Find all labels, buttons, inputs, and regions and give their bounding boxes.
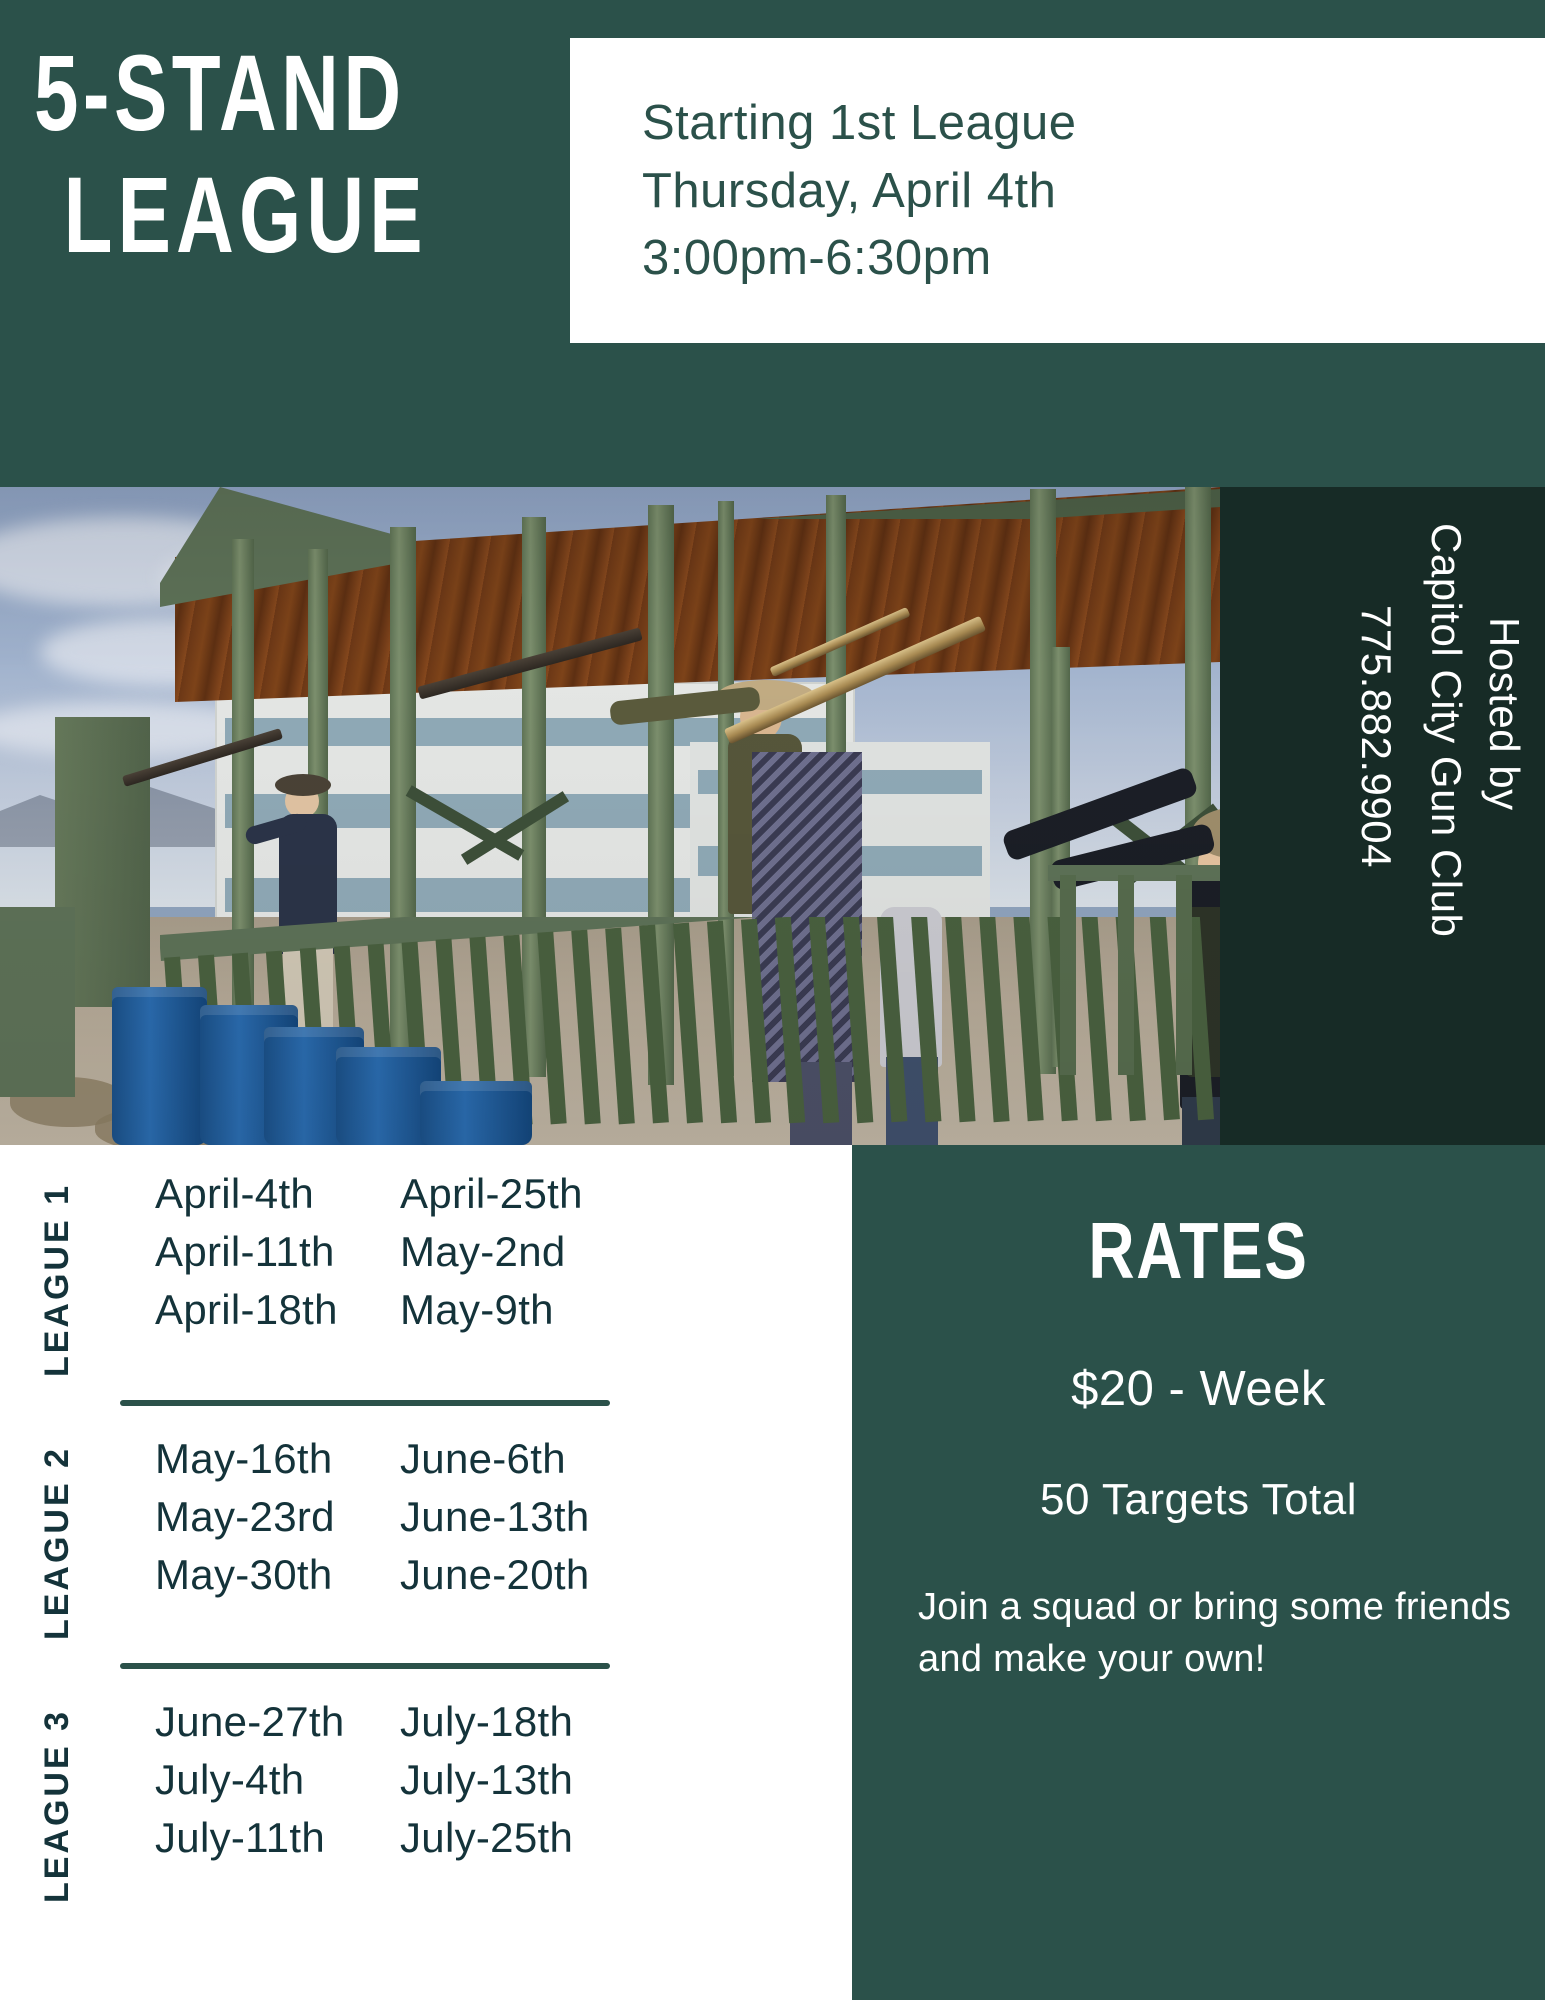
photo-band: Hosted by Capitol City Gun Club 775.882.… — [0, 487, 1545, 1145]
rates-note: Join a squad or bring some friends and m… — [852, 1581, 1545, 1686]
photo-rail-outer-post — [1060, 875, 1076, 1075]
date-cell: April-4th — [155, 1165, 400, 1223]
league-divider-1 — [120, 1400, 610, 1406]
flyer-page: 5-STAND LEAGUE Starting 1st League Thurs… — [0, 0, 1545, 2000]
date-cell: July-11th — [155, 1809, 400, 1867]
event-info-card: Starting 1st League Thursday, April 4th … — [570, 38, 1545, 343]
date-cell: May-2nd — [400, 1223, 645, 1281]
date-cell: May-30th — [155, 1546, 400, 1604]
league-dates-1: April-4th April-25th April-11th May-2nd … — [155, 1165, 645, 1339]
club-name: Capitol City Gun Club — [1425, 523, 1467, 937]
photo-rail-outer-post — [1118, 875, 1134, 1075]
shooting-range-photo — [0, 487, 1220, 1145]
event-info-line-1: Starting 1st League — [642, 90, 1545, 158]
title-line-2: LEAGUE — [34, 160, 419, 270]
event-info-line-2: Thursday, April 4th — [642, 158, 1545, 226]
league-dates-3: June-27th July-18th July-4th July-13th J… — [155, 1693, 645, 1867]
rates-panel: RATES $20 - Week 50 Targets Total Join a… — [852, 1145, 1545, 2000]
event-info-line-3: 3:00pm-6:30pm — [642, 225, 1545, 293]
league-label-2: LEAGUE 2 — [38, 1446, 77, 1640]
date-cell: May-23rd — [155, 1488, 400, 1546]
date-cell: June-13th — [400, 1488, 645, 1546]
date-cell: May-16th — [155, 1430, 400, 1488]
date-cell: April-25th — [400, 1165, 645, 1223]
date-cell: April-18th — [155, 1281, 400, 1339]
title-line-1: 5-STAND — [34, 38, 419, 148]
league-schedule: LEAGUE 1 April-4th April-25th April-11th… — [0, 1145, 852, 2000]
date-cell: April-11th — [155, 1223, 400, 1281]
date-cell: June-6th — [400, 1430, 645, 1488]
bottom-section: LEAGUE 1 April-4th April-25th April-11th… — [0, 1145, 1545, 2000]
rates-title: RATES — [921, 1205, 1475, 1297]
league-dates-2: May-16th June-6th May-23rd June-13th May… — [155, 1430, 645, 1604]
league-label-3: LEAGUE 3 — [38, 1709, 77, 1903]
photo-barrel — [420, 1081, 532, 1145]
date-cell: July-25th — [400, 1809, 645, 1867]
date-cell: June-20th — [400, 1546, 645, 1604]
league-divider-2 — [120, 1663, 610, 1669]
date-cell: July-4th — [155, 1751, 400, 1809]
host-strip: Hosted by Capitol City Gun Club 775.882.… — [1220, 487, 1545, 1145]
photo-barrel — [112, 987, 207, 1145]
page-title: 5-STAND LEAGUE — [34, 38, 554, 270]
date-cell: May-9th — [400, 1281, 645, 1339]
rates-price: $20 - Week — [852, 1361, 1545, 1417]
hosted-by-label: Hosted by — [1483, 617, 1525, 811]
rates-targets: 50 Targets Total — [852, 1475, 1545, 1525]
club-phone: 775.882.9904 — [1355, 605, 1397, 868]
photo-rail-outer-post — [1176, 875, 1192, 1075]
photo-panel — [0, 907, 75, 1097]
date-cell: June-27th — [155, 1693, 400, 1751]
date-cell: July-13th — [400, 1751, 645, 1809]
header-banner: 5-STAND LEAGUE Starting 1st League Thurs… — [0, 0, 1545, 487]
league-label-1: LEAGUE 1 — [38, 1183, 77, 1377]
date-cell: July-18th — [400, 1693, 645, 1751]
